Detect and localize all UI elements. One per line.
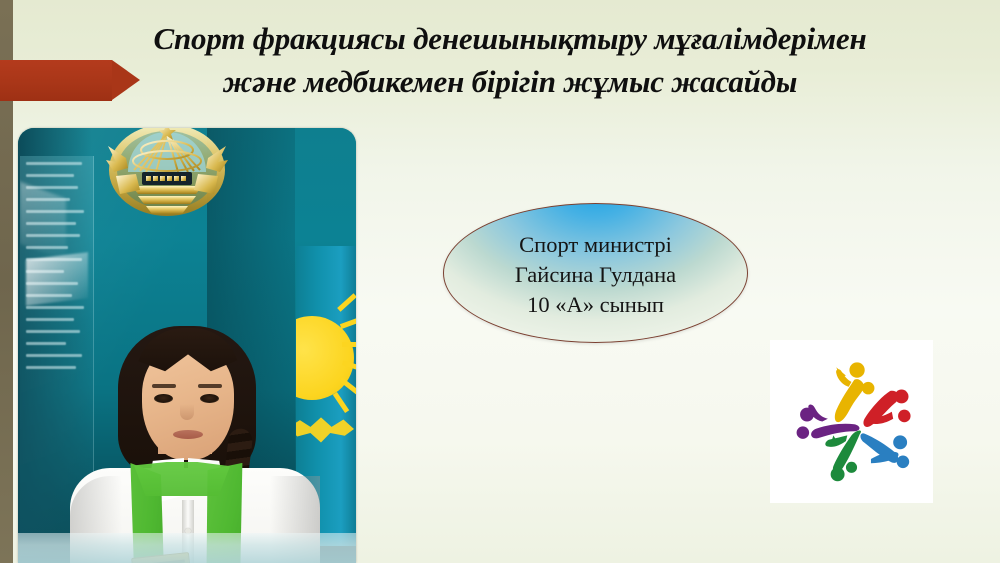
arrow-banner-tail [0, 60, 112, 101]
presentation-slide: Спорт фракциясы денешынықтыру мұғалімдер… [0, 0, 1000, 563]
status-callout-oval: Спорт министрі Гайсина Гулдана 10 «А» сы… [443, 203, 748, 343]
student-portrait-photo [18, 128, 356, 563]
slide-title: Спорт фракциясы денешынықтыру мұғалімдер… [150, 18, 870, 104]
callout-line-1: Спорт министрі [444, 230, 747, 260]
eye-right [200, 394, 219, 403]
eyebrow-right [198, 384, 222, 388]
sport-people-logo-icon [782, 352, 921, 491]
green-figure [825, 430, 861, 481]
eyebrow-left [152, 384, 176, 388]
slide-title-line-1: Спорт фракциясы денешынықтыру мұғалімдер… [150, 18, 870, 61]
slide-title-line-2: және медбикемен бірігіп жұмыс жасайды [150, 61, 870, 104]
callout-line-2: Гайсина Гулдана [444, 260, 747, 290]
red-figure [863, 390, 910, 427]
glass-desk-reflection [18, 533, 356, 563]
blue-figure [860, 433, 909, 468]
person-figure [18, 128, 356, 563]
arrow-banner-head [112, 60, 140, 100]
decorative-arrow-banner [0, 60, 140, 101]
sport-people-logo-tile [770, 340, 933, 503]
callout-line-3: 10 «А» сынып [444, 290, 747, 320]
nose [180, 404, 194, 420]
mouth [173, 430, 203, 439]
purple-figure [797, 404, 860, 438]
eye-left [154, 394, 173, 403]
green-sash-collar-fold [134, 462, 230, 496]
callout-text-block: Спорт министрі Гайсина Гулдана 10 «А» сы… [444, 230, 747, 320]
